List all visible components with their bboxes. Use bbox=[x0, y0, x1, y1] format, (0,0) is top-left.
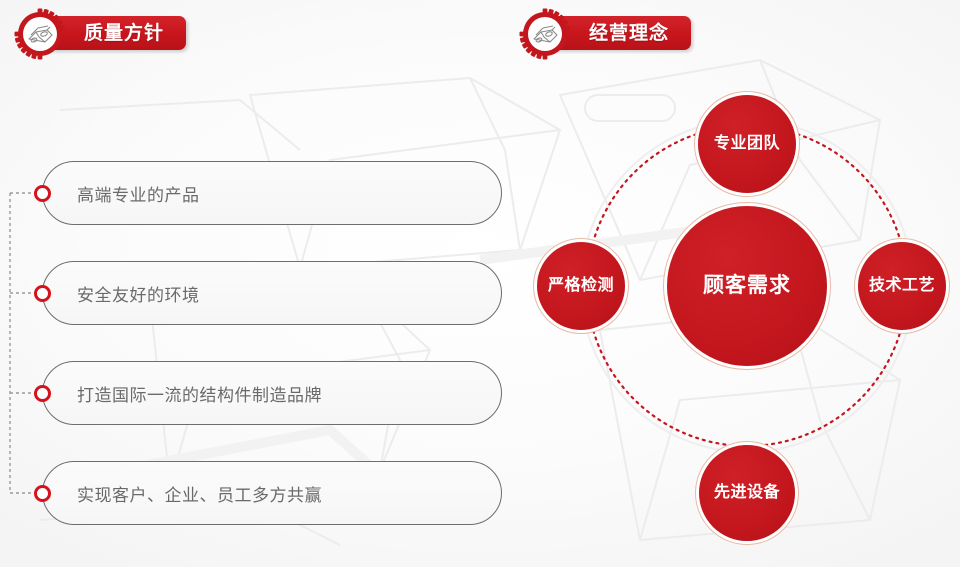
section-header-quality: 质量方针 bbox=[0, 6, 230, 58]
section-header-philosophy: 经营理念 bbox=[505, 6, 745, 58]
satellite-bubble-top[interactable]: 专业团队 bbox=[698, 95, 796, 193]
list-item[interactable]: 安全友好的环境 bbox=[42, 261, 502, 325]
satellite-bubble-label: 严格检测 bbox=[548, 277, 614, 295]
list-marker-3 bbox=[34, 385, 51, 402]
satellite-bubble-left[interactable]: 严格检测 bbox=[537, 242, 625, 330]
satellite-bubble-label: 技术工艺 bbox=[869, 277, 935, 295]
center-bubble[interactable]: 顾客需求 bbox=[667, 206, 827, 366]
list-item-label: 安全友好的环境 bbox=[77, 281, 200, 306]
satellite-bubble-bottom[interactable]: 先进设备 bbox=[699, 445, 795, 541]
list-item[interactable]: 实现客户、企业、员工多方共赢 bbox=[42, 461, 502, 525]
satellite-bubble-label: 先进设备 bbox=[714, 484, 780, 502]
list-marker-4 bbox=[34, 485, 51, 502]
philosophy-diagram: 顾客需求 专业团队 技术工艺 先进设备 严格检测 bbox=[500, 60, 960, 567]
list-item-label: 高端专业的产品 bbox=[77, 181, 200, 206]
satellite-bubble-right[interactable]: 技术工艺 bbox=[858, 242, 946, 330]
list-item[interactable]: 打造国际一流的结构件制造品牌 bbox=[42, 361, 502, 425]
slide-canvas: 质量方针 bbox=[0, 0, 960, 567]
gear-machinery-icon bbox=[519, 8, 571, 60]
list-marker-1 bbox=[34, 185, 51, 202]
list-item-label: 打造国际一流的结构件制造品牌 bbox=[77, 381, 322, 406]
center-bubble-label: 顾客需求 bbox=[703, 274, 791, 297]
list-item-label: 实现客户、企业、员工多方共赢 bbox=[77, 481, 322, 506]
quality-title: 质量方针 bbox=[84, 24, 164, 43]
gear-machinery-icon bbox=[14, 8, 66, 60]
philosophy-title: 经营理念 bbox=[589, 24, 669, 43]
list-marker-2 bbox=[34, 285, 51, 302]
list-item[interactable]: 高端专业的产品 bbox=[42, 161, 502, 225]
satellite-bubble-label: 专业团队 bbox=[714, 135, 780, 153]
